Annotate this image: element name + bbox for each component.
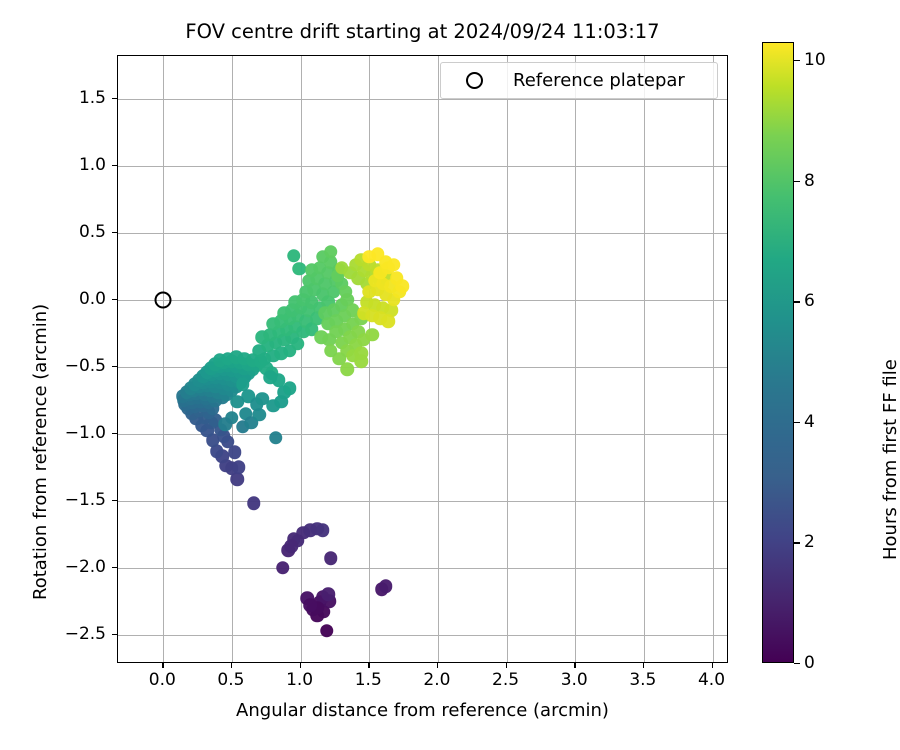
colorbar-tick-label: 0 — [804, 653, 815, 673]
colorbar-tick-label: 2 — [804, 532, 815, 552]
data-point — [253, 408, 267, 422]
x-tick — [643, 663, 644, 668]
plot-area — [117, 55, 728, 663]
y-tick — [112, 232, 117, 233]
data-point — [232, 460, 246, 474]
x-tick — [368, 663, 369, 668]
x-tick-label: 2.0 — [423, 670, 450, 690]
y-tick — [112, 165, 117, 166]
colorbar-tick-label: 10 — [804, 50, 826, 70]
reference-platepar-circle-icon — [466, 72, 483, 89]
data-point — [269, 431, 283, 445]
colorbar-tick — [794, 181, 800, 182]
colorbar-tick — [794, 301, 800, 302]
x-tick — [574, 663, 575, 668]
gridline-horizontal — [118, 99, 727, 100]
gridline-vertical — [575, 56, 576, 662]
y-tick — [112, 98, 117, 99]
y-tick-label: −2.5 — [65, 624, 106, 644]
y-tick-label: 0.0 — [79, 289, 106, 309]
data-point — [387, 258, 401, 272]
data-point — [276, 561, 290, 575]
data-point — [316, 523, 330, 537]
colorbar-tick — [794, 542, 800, 543]
y-tick — [112, 500, 117, 501]
x-tick — [231, 663, 232, 668]
data-point — [284, 539, 298, 553]
legend-entry-label: Reference platepar — [513, 70, 685, 91]
y-tick — [112, 567, 117, 568]
x-tick — [712, 663, 713, 668]
gridline-horizontal — [118, 233, 727, 234]
x-tick-label: 3.5 — [629, 670, 656, 690]
data-point — [382, 314, 396, 328]
y-tick-label: −1.5 — [65, 490, 106, 510]
y-axis-label: Rotation from reference (arcmin) — [30, 304, 51, 600]
data-point — [320, 624, 334, 638]
data-point — [363, 250, 377, 264]
x-tick-label: 1.0 — [286, 670, 313, 690]
x-tick — [300, 663, 301, 668]
x-tick-label: 0.5 — [217, 670, 244, 690]
data-point — [231, 395, 245, 409]
data-point — [324, 344, 338, 358]
y-tick-label: 1.5 — [79, 88, 106, 108]
data-point — [395, 280, 409, 294]
y-tick — [112, 299, 117, 300]
data-point — [247, 497, 261, 511]
figure-canvas: FOV centre drift starting at 2024/09/24 … — [0, 0, 900, 750]
x-axis-label: Angular distance from reference (arcmin) — [117, 700, 728, 721]
gridline-vertical — [369, 56, 370, 662]
gridline-vertical — [713, 56, 714, 662]
x-tick-label: 4.0 — [698, 670, 725, 690]
page-title: FOV centre drift starting at 2024/09/24 … — [117, 20, 728, 43]
gridline-vertical — [301, 56, 302, 662]
x-tick — [506, 663, 507, 668]
data-point — [218, 418, 232, 432]
gridline-vertical — [644, 56, 645, 662]
y-tick — [112, 366, 117, 367]
y-tick-label: −1.0 — [65, 423, 106, 443]
gridline-vertical — [507, 56, 508, 662]
data-point — [379, 580, 393, 594]
colorbar-tick-label: 4 — [804, 412, 815, 432]
colorbar — [762, 42, 794, 663]
data-point — [354, 355, 368, 369]
data-point — [365, 328, 379, 342]
data-point — [324, 245, 338, 259]
colorbar-tick-label: 8 — [804, 171, 815, 191]
colorbar-tick — [794, 422, 800, 423]
x-tick — [162, 663, 163, 668]
data-point — [287, 249, 301, 263]
x-tick-label: 2.5 — [492, 670, 519, 690]
gridline-horizontal — [118, 635, 727, 636]
x-tick-label: 3.0 — [561, 670, 588, 690]
reference-platepar-marker — [155, 291, 172, 308]
legend: Reference platepar — [440, 62, 718, 99]
gridline-vertical — [163, 56, 164, 662]
colorbar-tick-label: 6 — [804, 291, 815, 311]
y-tick-label: −0.5 — [65, 356, 106, 376]
data-point — [324, 551, 338, 565]
gridline-horizontal — [118, 166, 727, 167]
y-tick-label: −2.0 — [65, 557, 106, 577]
data-point — [321, 588, 335, 602]
data-point — [291, 337, 305, 351]
colorbar-label: Hours from first FF file — [880, 359, 900, 560]
colorbar-tick — [794, 60, 800, 61]
y-tick-label: 1.0 — [79, 155, 106, 175]
data-point — [303, 598, 317, 612]
y-tick-label: 0.5 — [79, 222, 106, 242]
gridline-horizontal — [118, 568, 727, 569]
y-tick — [112, 634, 117, 635]
gridline-horizontal — [118, 501, 727, 502]
x-tick-label: 0.0 — [149, 670, 176, 690]
gridline-horizontal — [118, 300, 727, 301]
data-point — [264, 371, 278, 385]
x-tick — [437, 663, 438, 668]
y-tick — [112, 433, 117, 434]
colorbar-tick — [794, 663, 800, 664]
gridline-vertical — [438, 56, 439, 662]
x-tick-label: 1.5 — [355, 670, 382, 690]
